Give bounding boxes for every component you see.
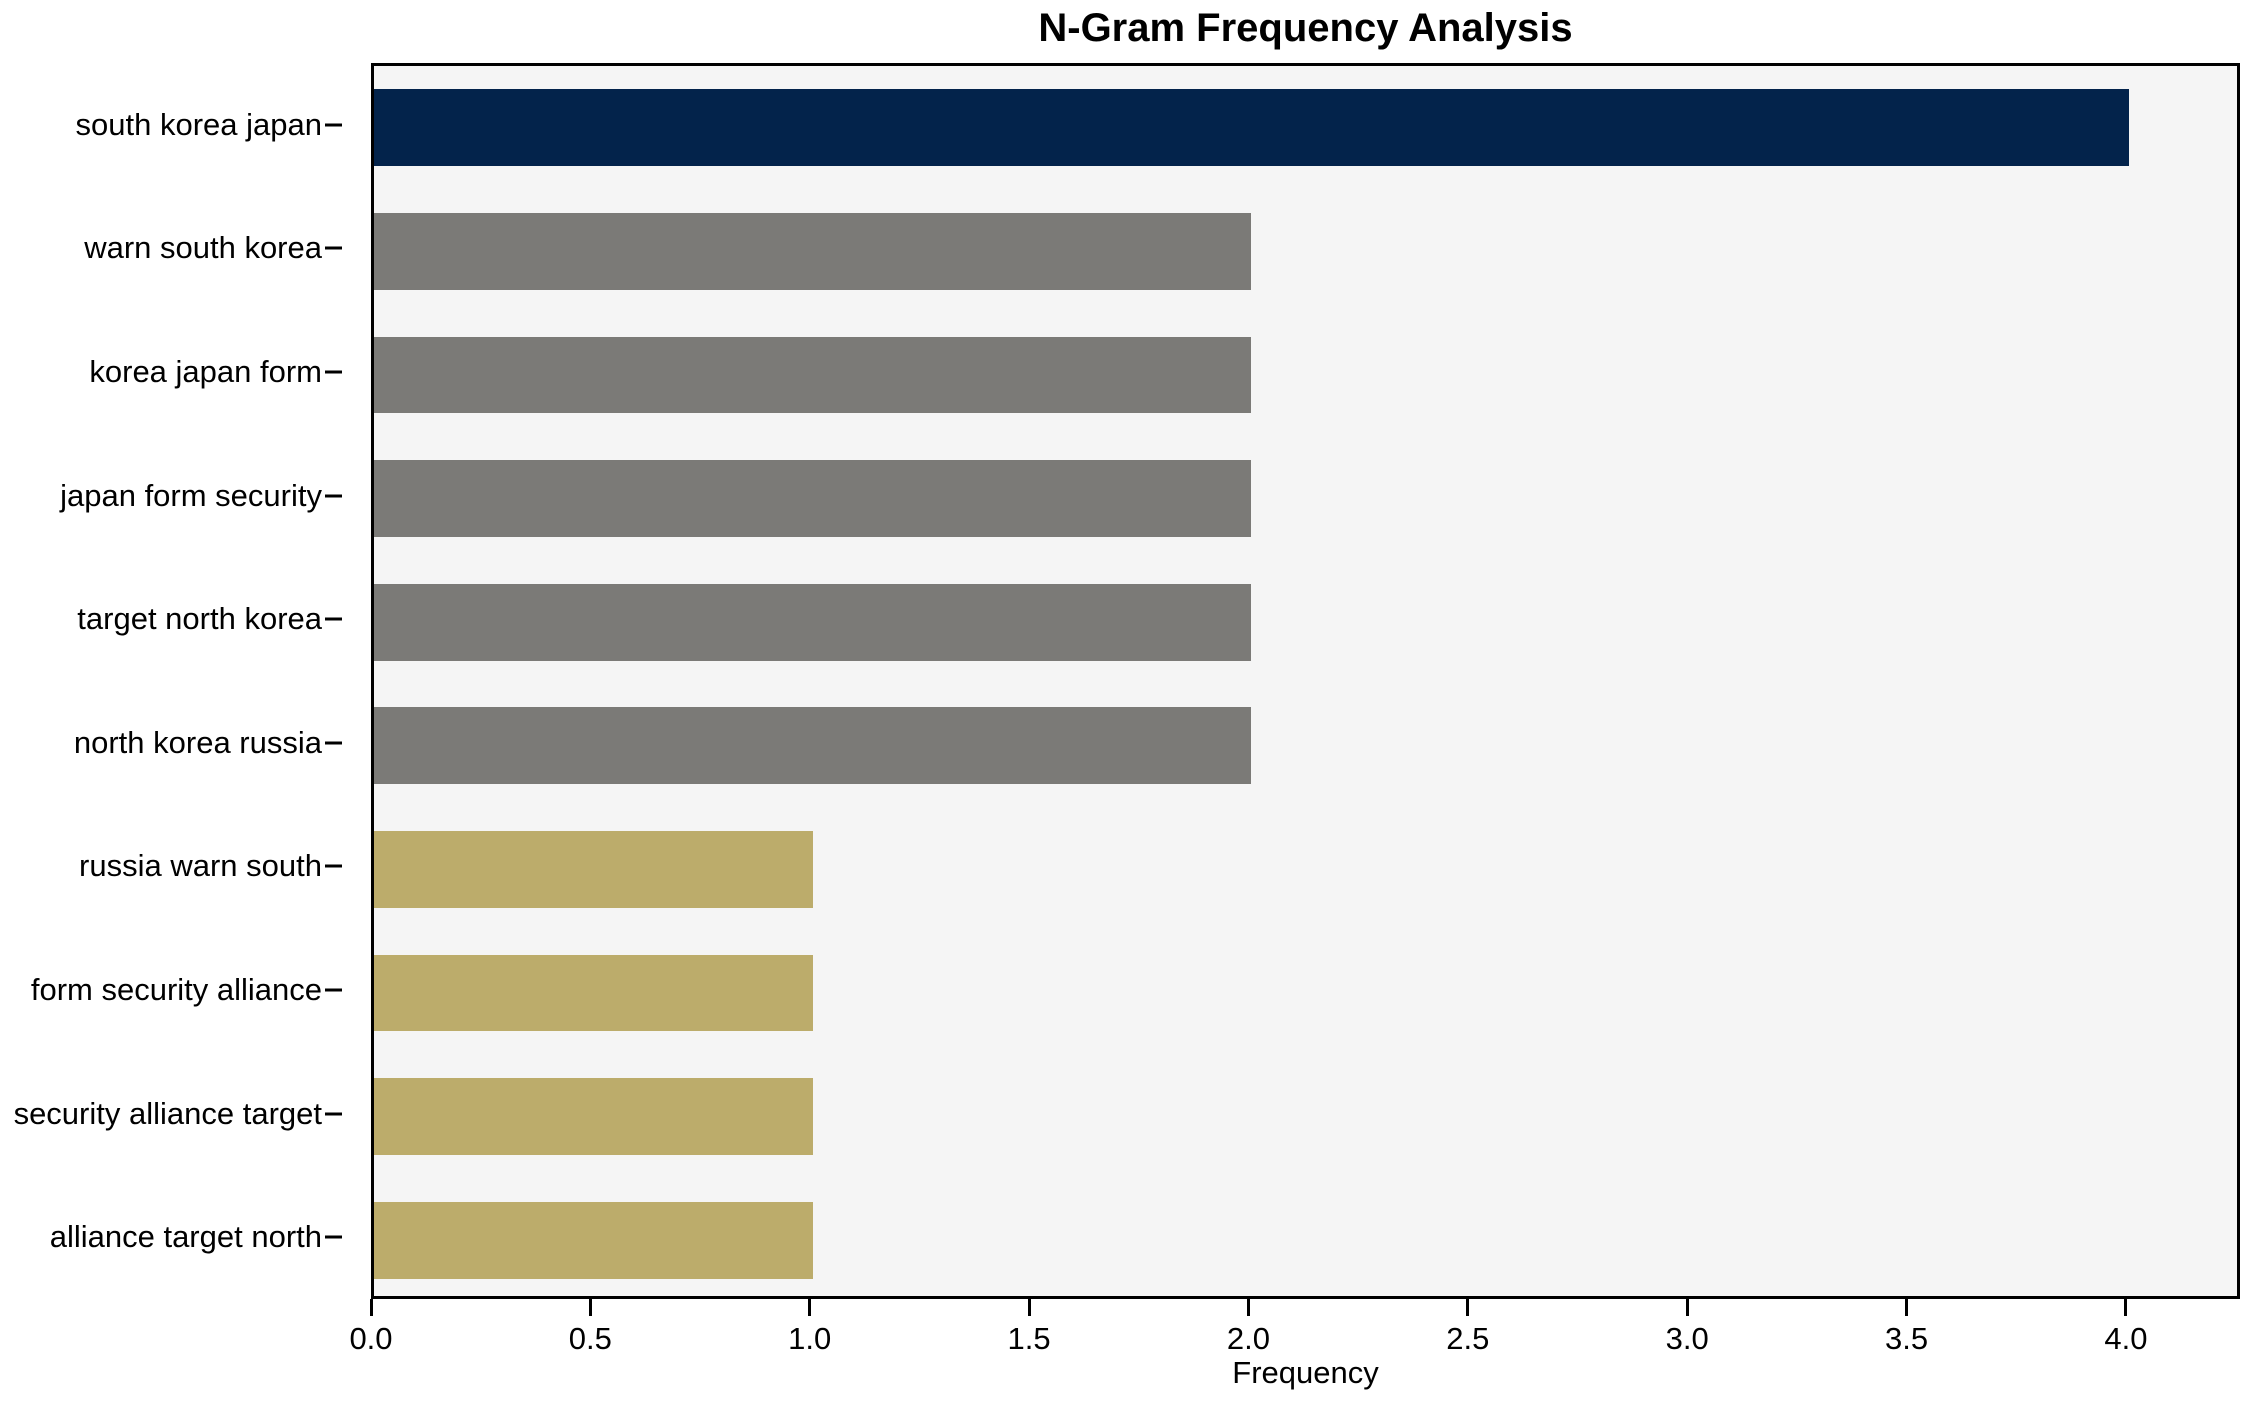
x-axis-title: Frequency (371, 1355, 2240, 1391)
y-tick-mark (325, 1112, 342, 1115)
y-tick-mark (325, 865, 342, 868)
x-tick-mark (1466, 1299, 1469, 1316)
bar (374, 955, 813, 1032)
x-tick-mark (2124, 1299, 2127, 1316)
x-tick-label: 1.5 (1008, 1321, 1051, 1357)
y-tick-label: korea japan form (89, 354, 322, 390)
y-axis: south korea japanwarn south koreakorea j… (0, 63, 352, 1299)
x-tick-label: 2.5 (1446, 1321, 1489, 1357)
bar (374, 1202, 813, 1279)
x-tick-label: 3.5 (1885, 1321, 1928, 1357)
y-tick-mark (325, 618, 342, 621)
x-tick-mark (1905, 1299, 1908, 1316)
x-tick-mark (589, 1299, 592, 1316)
x-axis: 0.00.51.01.52.02.53.03.54.0 (371, 1299, 2240, 1359)
bar (374, 584, 1251, 661)
chart-figure: N-Gram Frequency Analysis south korea ja… (0, 0, 2251, 1414)
x-tick-label: 1.0 (788, 1321, 831, 1357)
y-tick-mark (325, 494, 342, 497)
x-tick-mark (1247, 1299, 1250, 1316)
y-tick-mark (325, 371, 342, 374)
bar (374, 1078, 813, 1155)
bar (374, 213, 1251, 290)
y-tick-mark (325, 989, 342, 992)
x-tick-label: 3.0 (1666, 1321, 1709, 1357)
y-tick-label: north korea russia (74, 725, 322, 761)
x-tick-label: 2.0 (1227, 1321, 1270, 1357)
y-tick-label: alliance target north (50, 1219, 322, 1255)
bar (374, 337, 1251, 414)
plot-area (371, 63, 2240, 1299)
bar (374, 707, 1251, 784)
x-tick-label: 0.5 (569, 1321, 612, 1357)
x-tick-mark (1686, 1299, 1689, 1316)
x-tick-mark (370, 1299, 373, 1316)
y-tick-label: form security alliance (31, 972, 322, 1008)
y-tick-label: russia warn south (79, 848, 322, 884)
y-tick-label: security alliance target (14, 1096, 322, 1132)
y-tick-mark (325, 247, 342, 250)
x-tick-label: 4.0 (2104, 1321, 2147, 1357)
y-tick-label: japan form security (60, 478, 322, 514)
x-tick-label: 0.0 (349, 1321, 392, 1357)
x-tick-mark (1028, 1299, 1031, 1316)
bar (374, 460, 1251, 537)
y-tick-label: target north korea (77, 601, 322, 637)
y-tick-mark (325, 1236, 342, 1239)
y-tick-label: warn south korea (84, 230, 322, 266)
bars-layer (374, 66, 2237, 1296)
bar (374, 831, 813, 908)
x-tick-mark (808, 1299, 811, 1316)
chart-title: N-Gram Frequency Analysis (371, 4, 2240, 52)
y-tick-mark (325, 741, 342, 744)
y-tick-label: south korea japan (76, 107, 322, 143)
y-tick-mark (325, 123, 342, 126)
bar (374, 89, 2129, 166)
